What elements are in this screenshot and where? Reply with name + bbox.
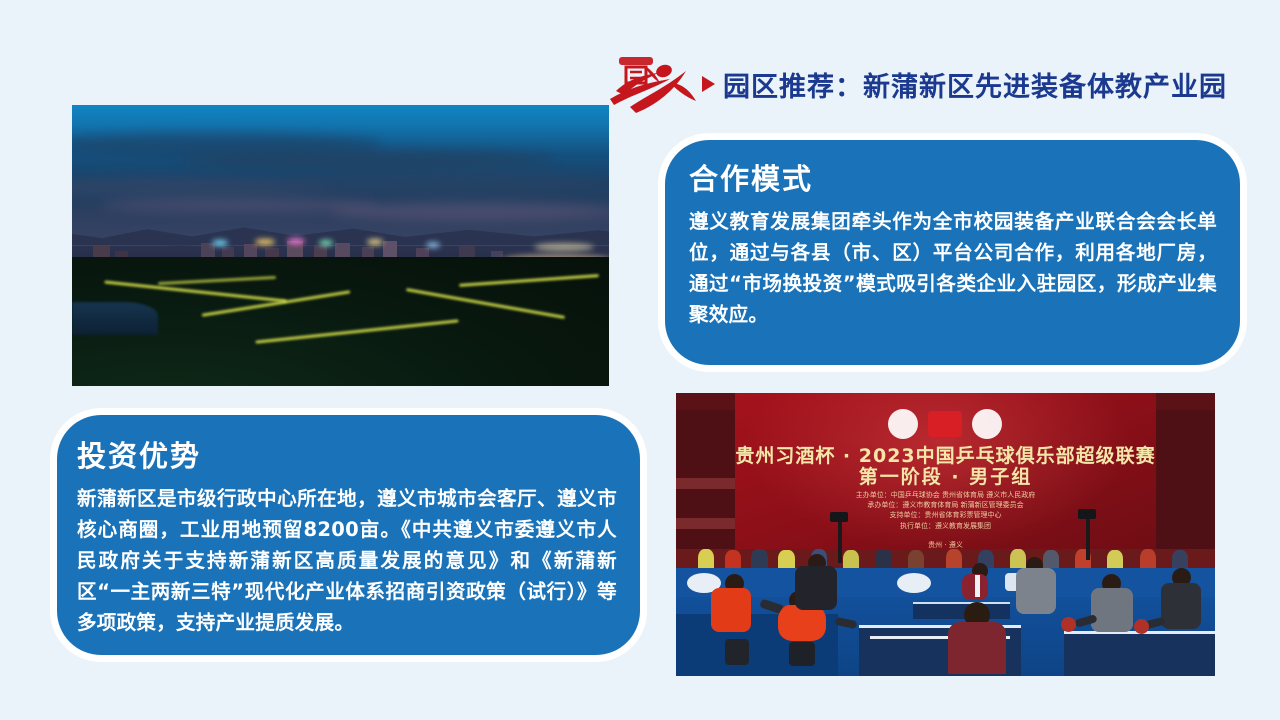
zunyi-calligraphy-logo [600,49,700,119]
investment-advantage-card: 投资优势 新蒲新区是市级行政中心所在地，遵义市城市会客厅、遵义市核心商圈，工业用… [57,415,640,655]
banner-org-line-4: 执行单位：遵义教育发展集团 [735,521,1155,531]
banner-org-line-1: 主办单位：中国乒乓球协会 贵州省体育局 遵义市人民政府 [735,490,1155,500]
page-title: 园区推荐：新蒲新区先进装备体教产业园 [723,65,1227,104]
zunyi-city-night-view-photo [72,105,609,386]
table-tennis-match-photo: 贵州习酒杯 · 2023中国乒乓球俱乐部超级联赛 第一阶段 · 男子组 主办单位… [676,393,1215,676]
play-triangle-icon [702,76,715,92]
card-body-cooperation: 遵义教育发展集团牵头作为全市校园装备产业联合会会长单位，通过与各县（市、区）平台… [689,206,1217,330]
slide-header: 园区推荐：新蒲新区先进装备体教产业园 [600,48,1220,120]
slide-canvas: 园区推荐：新蒲新区先进装备体教产业园 [0,0,1280,720]
card-title-advantage: 投资优势 [77,433,201,475]
card-body-advantage: 新蒲新区是市级行政中心所在地，遵义市城市会客厅、遵义市核心商圈，工业用地预留82… [77,483,617,638]
banner-title-line2: 第一阶段 · 男子组 [735,462,1155,489]
cooperation-model-card: 合作模式 遵义教育发展集团牵头作为全市校园装备产业联合会会长单位，通过与各县（市… [665,140,1240,365]
card-title-cooperation: 合作模式 [689,156,813,198]
